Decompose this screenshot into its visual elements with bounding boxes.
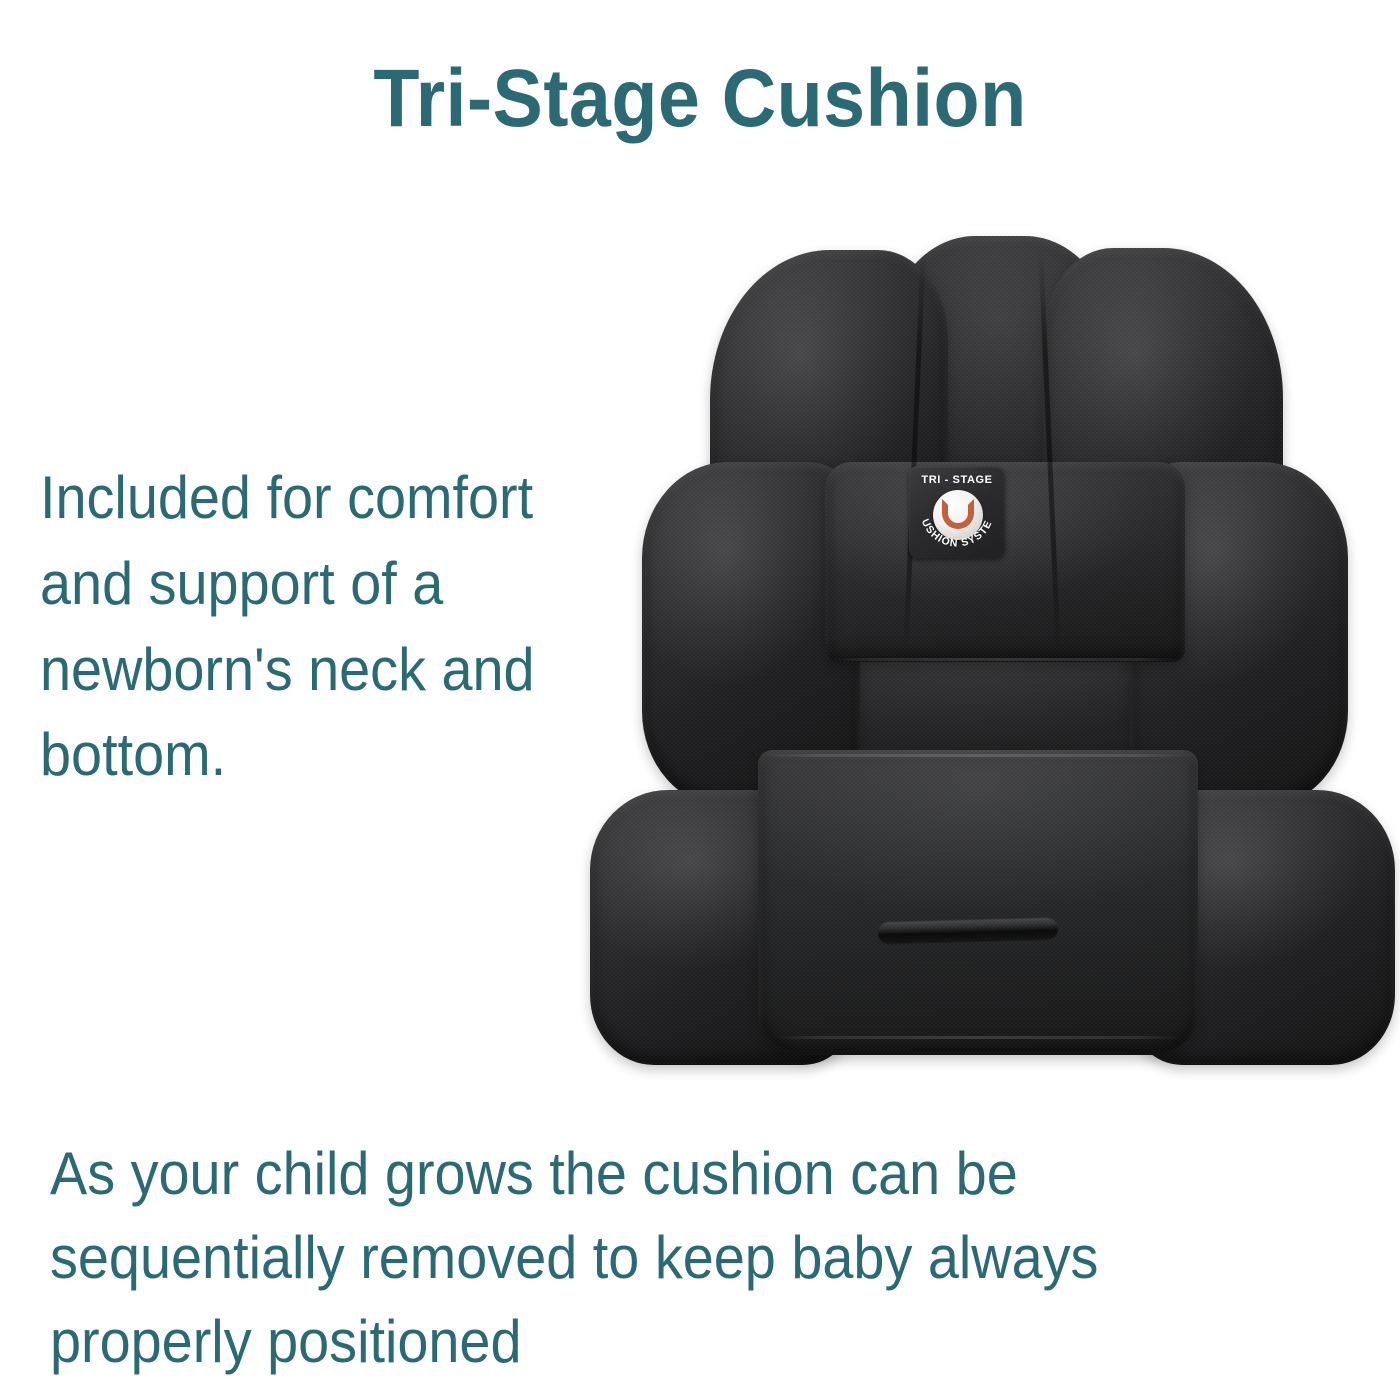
infographic-page: Tri-Stage Cushion Included for comfort a… xyxy=(0,0,1400,1400)
seat-bottom-pad xyxy=(758,750,1198,1055)
left-description-text: Included for comfort and support of a ne… xyxy=(40,455,561,798)
neck-support-panel xyxy=(825,462,1185,662)
logo-arc-text: CUSHION SYSTEM xyxy=(909,466,995,550)
harness-strap-slot xyxy=(878,918,1059,945)
tri-stage-logo-tag: TRI - STAGE CUSHION SYSTEM xyxy=(909,466,1005,558)
bottom-description-text: As your child grows the cushion can be s… xyxy=(50,1132,1129,1384)
product-image: TRI - STAGE CUSHION SYSTEM xyxy=(560,230,1400,1060)
page-title: Tri-Stage Cushion xyxy=(56,58,1344,140)
logo-arc-text-svg: CUSHION SYSTEM xyxy=(909,466,1005,558)
